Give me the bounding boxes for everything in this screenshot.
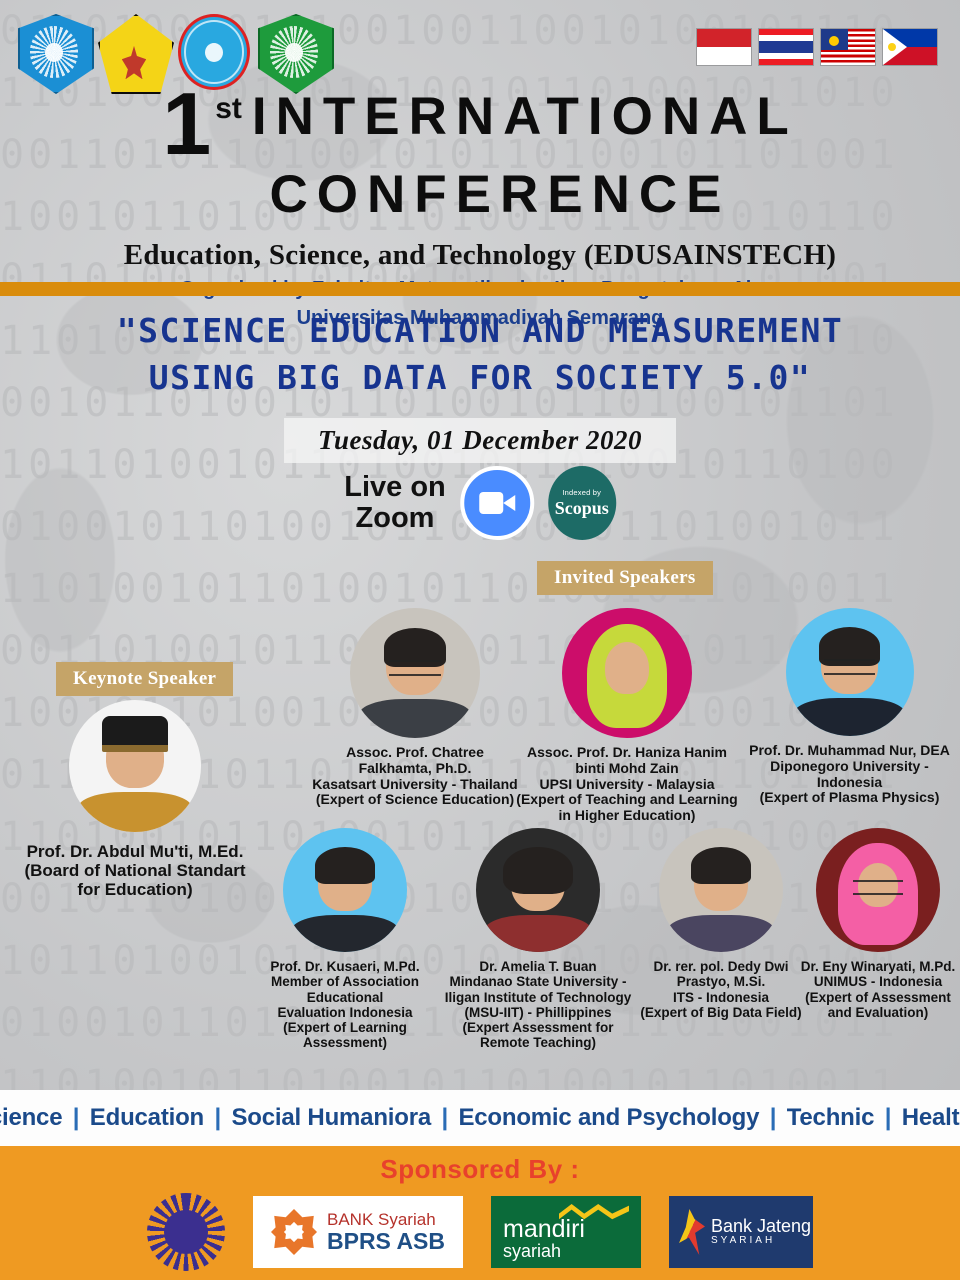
topic-separator: | [435, 1104, 454, 1131]
avatar [659, 828, 783, 952]
topic-separator: | [878, 1104, 897, 1131]
scopus-main-label: Scopus [555, 498, 609, 519]
orange-divider-top [0, 282, 960, 296]
country-flags [696, 28, 938, 66]
bprs-line-2: BPRS ASB [327, 1229, 445, 1253]
scopus-indexed-badge: Indexed by Scopus [548, 466, 616, 540]
speaker-card-7: Dr. Eny Winaryati, M.Pd. UNIMUS - Indone… [800, 828, 956, 1020]
logo-universitas-muhammadiyah-purworejo [258, 14, 330, 90]
jateng-line-2: SYARIAH [711, 1236, 811, 1247]
bprs-star-icon [271, 1209, 317, 1255]
live-label-line-1: Live on [344, 472, 446, 503]
poster-header: 1 st INTERNATIONAL CONFERENCE Education,… [0, 0, 960, 282]
live-label: Live on Zoom [344, 472, 446, 535]
bank-jateng-syariah-logo: Bank Jateng SYARIAH [669, 1196, 813, 1268]
speaker-card-3: Prof. Dr. Muhammad Nur, DEA Diponegoro U… [742, 608, 957, 806]
conference-poster: 01101001011100100110010100101110 1101001… [0, 0, 960, 1280]
speaker-name: Assoc. Prof. Dr. Haniza Hanim binti Mohd… [513, 745, 741, 824]
philippines-flag [882, 28, 938, 66]
muhammadiyah-logo [147, 1193, 225, 1271]
mandiri-syariah-logo: mandiri syariah [491, 1196, 641, 1268]
avatar [476, 828, 600, 952]
jateng-burst-icon [679, 1209, 705, 1255]
avatar [350, 608, 480, 738]
speaker-name: Assoc. Prof. Chatree Falkhamta, Ph.D. Ka… [300, 745, 530, 808]
topic-separator: | [66, 1104, 85, 1131]
title-international: INTERNATIONAL [252, 90, 798, 143]
keynote-speaker-tag: Keynote Speaker [56, 662, 233, 696]
speaker-name: Dr. Amelia T. Buan Mindanao State Univer… [438, 959, 638, 1051]
avatar [562, 608, 692, 738]
scopus-top-label: Indexed by [562, 488, 601, 497]
topic-item: Healthy [902, 1104, 960, 1131]
sponsor-logos: BANK Syariah BPRS ASB mandiri syariah Ba… [0, 1193, 960, 1271]
mandiri-line-1: mandiri [503, 1217, 585, 1242]
thailand-flag [758, 28, 814, 66]
speaker-card-4: Prof. Dr. Kusaeri, M.Pd. Member of Assoc… [252, 828, 438, 1051]
topics-list: Science | Education | Social Humaniora |… [0, 1104, 960, 1132]
bank-syariah-bprs-asb-logo: BANK Syariah BPRS ASB [253, 1196, 463, 1268]
invited-speakers-tag: Invited Speakers [537, 561, 713, 595]
speaker-card-1: Assoc. Prof. Chatree Falkhamta, Ph.D. Ka… [300, 608, 530, 808]
live-label-line-2: Zoom [344, 503, 446, 534]
title-conference: CONFERENCE [0, 168, 960, 221]
event-date: Tuesday, 01 December 2020 [284, 418, 676, 463]
speaker-name: Dr. Eny Winaryati, M.Pd. UNIMUS - Indone… [800, 959, 956, 1020]
sponsors-title: Sponsored By : [0, 1146, 960, 1185]
theme-line-2: USING BIG DATA FOR SOCIETY 5.0" [0, 355, 960, 402]
bprs-line-1: BANK Syariah [327, 1211, 445, 1229]
topic-separator: | [763, 1104, 782, 1131]
video-camera-icon [460, 466, 534, 540]
malaysia-flag [820, 28, 876, 66]
ordinal-number: 1 [162, 86, 209, 162]
conference-subtitle: Education, Science, and Technology (EDUS… [0, 239, 960, 272]
topic-item: Education [90, 1104, 204, 1131]
indonesia-flag [696, 28, 752, 66]
topic-separator: | [208, 1104, 227, 1131]
topic-item: Science [0, 1104, 62, 1131]
logo-universitas-muria-kudus [98, 14, 170, 90]
sponsors-section: Sponsored By : BANK Syariah BPRS ASB man… [0, 1146, 960, 1280]
keynote-speaker-name: Prof. Dr. Abdul Mu'ti, M.Ed. (Board of N… [10, 842, 260, 900]
speaker-name: Prof. Dr. Kusaeri, M.Pd. Member of Assoc… [252, 959, 438, 1051]
speaker-card-5: Dr. Amelia T. Buan Mindanao State Univer… [438, 828, 638, 1051]
conference-theme: "SCIENCE EDUCATION AND MEASUREMENT USING… [0, 308, 960, 402]
avatar [816, 828, 940, 952]
avatar [786, 608, 914, 736]
speaker-name: Dr. rer. pol. Dedy Dwi Prastyo, M.Si. IT… [628, 959, 814, 1020]
avatar [283, 828, 407, 952]
title-line-one: 1 st INTERNATIONAL [0, 86, 960, 162]
jateng-line-1: Bank Jateng [711, 1217, 811, 1236]
topic-item: Economic and Psychology [458, 1104, 759, 1131]
speaker-name: Prof. Dr. Muhammad Nur, DEA Diponegoro U… [742, 743, 957, 806]
topics-bar: Science | Education | Social Humaniora |… [0, 1090, 960, 1146]
mandiri-line-2: syariah [503, 1242, 561, 1262]
ordinal-suffix: st [215, 92, 242, 126]
avatar [69, 700, 201, 832]
keynote-speaker-card: Prof. Dr. Abdul Mu'ti, M.Ed. (Board of N… [10, 700, 260, 900]
speaker-card-6: Dr. rer. pol. Dedy Dwi Prastyo, M.Si. IT… [628, 828, 814, 1020]
topic-item: Social Humaniora [231, 1104, 431, 1131]
topic-item: Technic [787, 1104, 875, 1131]
live-platform-row: Live on Zoom Indexed by Scopus [344, 466, 616, 540]
theme-line-1: "SCIENCE EDUCATION AND MEASUREMENT [0, 308, 960, 355]
logo-universitas-muhammadiyah-semarang [18, 14, 90, 90]
speaker-card-2: Assoc. Prof. Dr. Haniza Hanim binti Mohd… [513, 608, 741, 824]
